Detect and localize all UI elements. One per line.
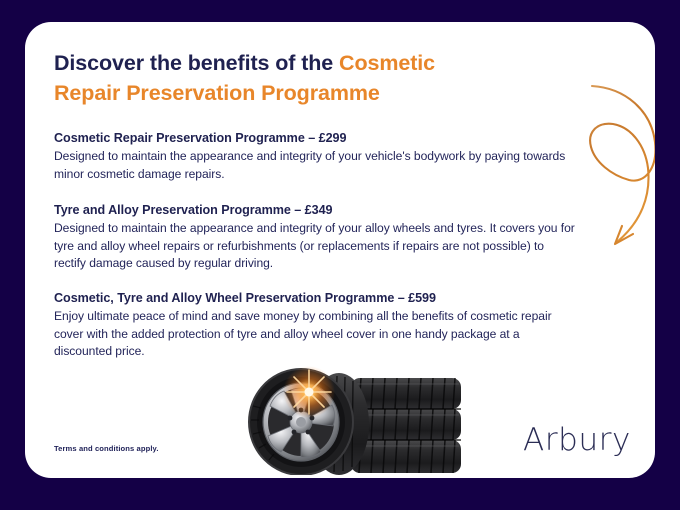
programme-description: Designed to maintain the appearance and … <box>54 148 578 183</box>
poster-canvas: Discover the benefits of the Cosmetic Re… <box>0 0 680 510</box>
programme-block-cosmetic: Cosmetic Repair Preservation Programme –… <box>54 130 578 183</box>
page-title: Discover the benefits of the Cosmetic Re… <box>54 48 574 108</box>
programme-block-combined: Cosmetic, Tyre and Alloy Wheel Preservat… <box>54 290 578 361</box>
content-card: Discover the benefits of the Cosmetic Re… <box>25 22 655 478</box>
programme-heading: Cosmetic, Tyre and Alloy Wheel Preservat… <box>54 290 578 306</box>
terms-and-conditions-text: Terms and conditions apply. <box>54 444 159 453</box>
programme-heading: Tyre and Alloy Preservation Programme – … <box>54 202 578 218</box>
title-accent-line-2: Repair Preservation Programme <box>54 81 380 105</box>
brand-logo-arbury: Arbury <box>523 422 631 458</box>
programme-block-tyre-alloy: Tyre and Alloy Preservation Programme – … <box>54 202 578 273</box>
programme-heading: Cosmetic Repair Preservation Programme –… <box>54 130 578 146</box>
title-lead-text: Discover the benefits of the <box>54 51 339 75</box>
programme-description: Designed to maintain the appearance and … <box>54 220 578 273</box>
title-accent-line-1: Cosmetic <box>339 51 435 75</box>
programme-description: Enjoy ultimate peace of mind and save mo… <box>54 308 578 361</box>
tyre-stack-with-alloy-wheel-icon <box>243 362 478 478</box>
